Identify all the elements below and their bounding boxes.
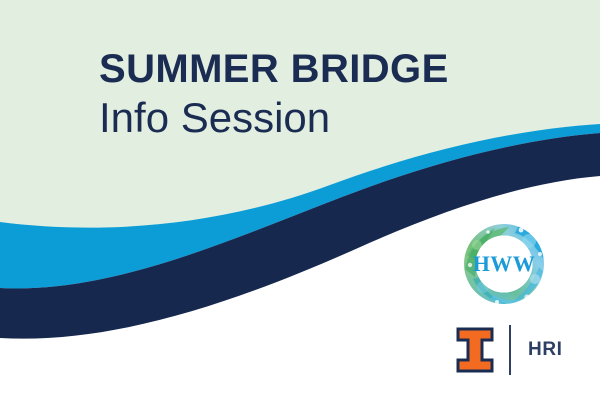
hri-wordmark: HRI	[528, 339, 563, 361]
hww-roundel-icon: HWW	[461, 221, 547, 307]
page-title: SUMMER BRIDGE	[99, 46, 519, 92]
illinois-block-i-icon	[454, 326, 496, 374]
headline-block: SUMMER BRIDGE Info Session	[99, 46, 519, 144]
hww-logo: HWW	[461, 221, 547, 307]
block-i-shape	[458, 329, 492, 371]
page-subtitle: Info Session	[99, 92, 519, 144]
hww-wordmark: HWW	[473, 251, 536, 276]
illinois-hri-lockup: HRI	[454, 322, 574, 378]
lockup-divider	[509, 325, 511, 375]
poster-canvas: SUMMER BRIDGE Info Session	[0, 0, 600, 400]
